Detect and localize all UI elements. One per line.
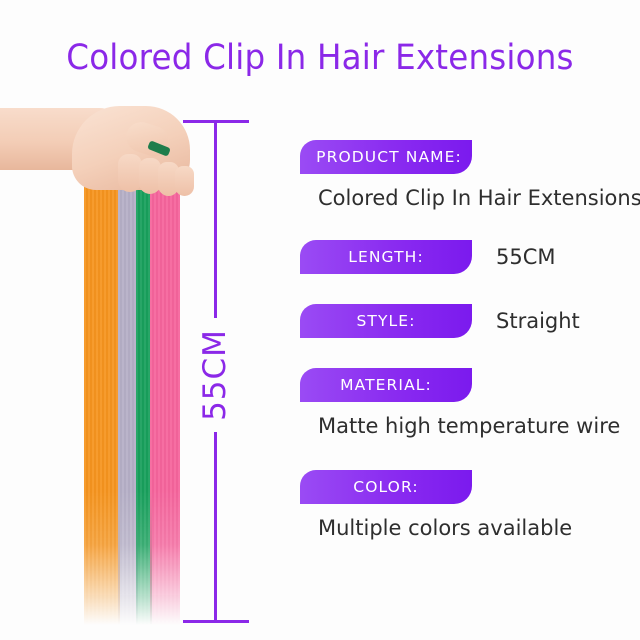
spec-row-product-name: PRODUCT NAME: Colored Clip In Hair Exten… bbox=[300, 140, 640, 210]
measurement-line-lower bbox=[214, 432, 217, 622]
measurement-label: 55CM bbox=[197, 329, 233, 421]
measurement-cap-bottom bbox=[183, 620, 249, 623]
spec-value-style: Straight bbox=[496, 304, 580, 338]
spec-value-length: 55CM bbox=[496, 240, 556, 274]
product-detail-image: Colored Clip In Hair Extensions 55CM PRO… bbox=[0, 0, 640, 640]
spec-value-product-name: Colored Clip In Hair Extensions bbox=[300, 186, 640, 210]
measurement-line-upper bbox=[214, 122, 217, 318]
spec-label-style: STYLE: bbox=[300, 304, 472, 338]
spec-label-product-name: PRODUCT NAME: bbox=[300, 140, 472, 174]
spec-value-material: Matte high temperature wire bbox=[300, 414, 640, 438]
spec-list: PRODUCT NAME: Colored Clip In Hair Exten… bbox=[300, 140, 640, 540]
spec-row-color: COLOR: Multiple colors available bbox=[300, 470, 640, 540]
spec-label-material: MATERIAL: bbox=[300, 368, 472, 402]
spec-label-length: LENGTH: bbox=[300, 240, 472, 274]
spec-value-color: Multiple colors available bbox=[300, 516, 640, 540]
spec-row-material: MATERIAL: Matte high temperature wire bbox=[300, 368, 640, 438]
spec-row-style: STYLE: Straight bbox=[300, 304, 640, 338]
spec-row-length: LENGTH: 55CM bbox=[300, 240, 640, 274]
spec-label-color: COLOR: bbox=[300, 470, 472, 504]
